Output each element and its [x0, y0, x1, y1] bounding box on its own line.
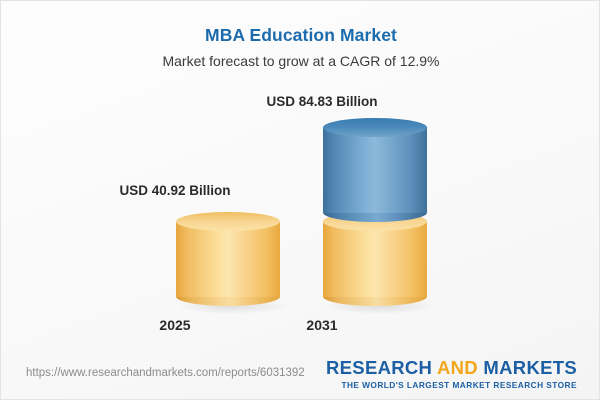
- category-label-2031: 2031: [212, 317, 432, 333]
- cylinder-top-cap: [176, 212, 280, 231]
- cylinder-2031[interactable]: [323, 118, 427, 306]
- logo-and-text: AND: [437, 357, 478, 378]
- footer: https://www.researchandmarkets.com/repor…: [1, 351, 600, 399]
- bar-value-label-2031: USD 84.83 Billion: [212, 94, 432, 109]
- research-and-markets-logo[interactable]: RESEARCH AND MARKETS THE WORLD'S LARGEST…: [326, 357, 577, 390]
- plot-area: USD 40.92 Billion 2025 USD 84.83 Billion: [1, 1, 600, 351]
- cylinder-segment-growth: [323, 118, 427, 222]
- logo-tagline: THE WORLD'S LARGEST MARKET RESEARCH STOR…: [326, 380, 577, 390]
- cylinder-2025[interactable]: [176, 212, 280, 306]
- cylinder-body: [323, 221, 427, 297]
- cylinder-segment-base: [323, 212, 427, 306]
- logo-markets-text: MARKETS: [483, 357, 577, 378]
- cylinder-segment-base: [176, 212, 280, 306]
- chart-card: MBA Education Market Market forecast to …: [0, 0, 600, 400]
- logo-research-text: RESEARCH: [326, 357, 432, 378]
- cylinder-body: [176, 221, 280, 297]
- cylinder-body: [323, 127, 427, 213]
- cylinder-top-cap: [323, 118, 427, 137]
- source-url[interactable]: https://www.researchandmarkets.com/repor…: [26, 367, 305, 379]
- logo-wordmark: RESEARCH AND MARKETS: [326, 357, 577, 379]
- bar-value-label-2025: USD 40.92 Billion: [65, 183, 285, 198]
